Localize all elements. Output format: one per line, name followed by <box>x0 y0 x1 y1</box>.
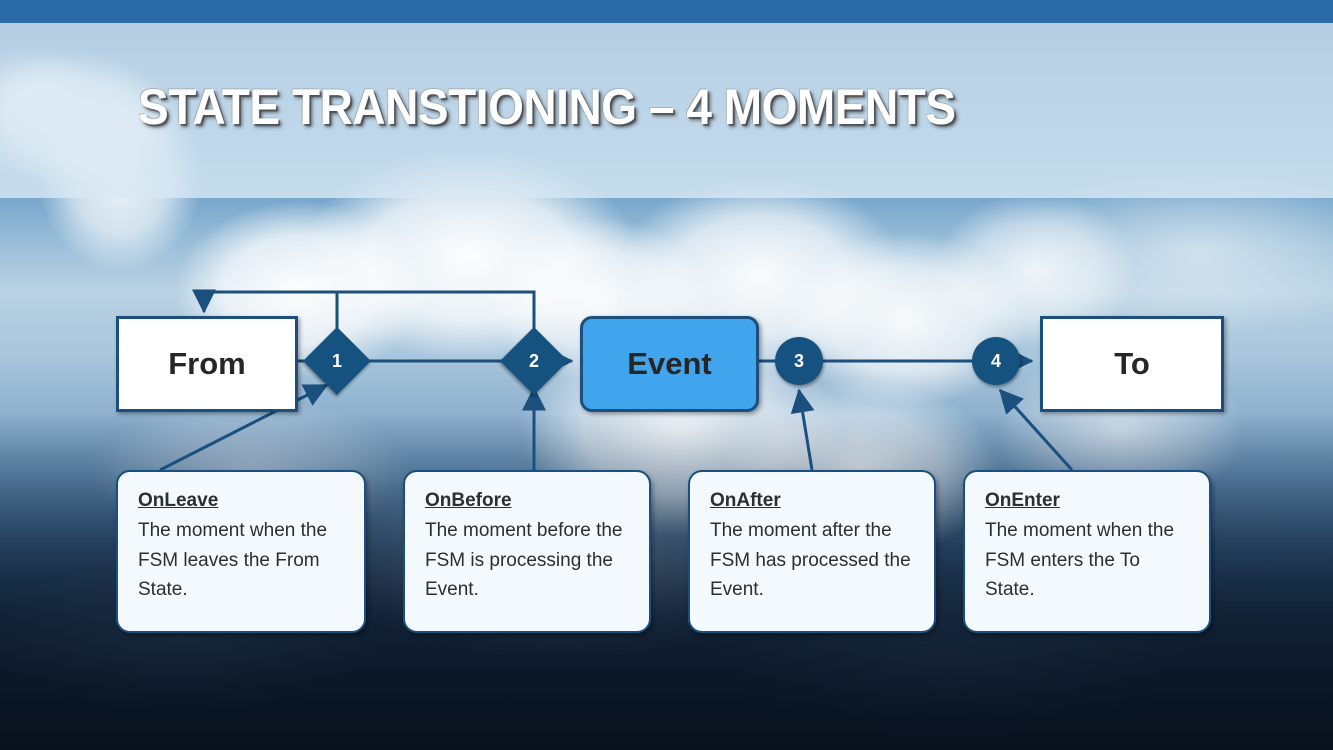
diagram-area: From Event To 1 2 3 4 OnLeave The moment… <box>0 0 1333 750</box>
state-box-from-label: From <box>168 346 246 382</box>
callout-onleave-description: The moment when the FSM leaves the From … <box>138 516 348 604</box>
callout-onafter[interactable]: OnAfter The moment after the FSM has pro… <box>688 470 936 633</box>
moment-marker-2[interactable]: 2 <box>510 337 558 385</box>
callout-onbefore-description: The moment before the FSM is processing … <box>425 516 633 604</box>
event-box[interactable]: Event <box>580 316 759 412</box>
callout-onbefore[interactable]: OnBefore The moment before the FSM is pr… <box>403 470 651 633</box>
callout-onafter-term: OnAfter <box>710 486 918 515</box>
callout-onbefore-term: OnBefore <box>425 486 633 515</box>
moment-marker-2-number: 2 <box>529 351 539 372</box>
moment-marker-3-number: 3 <box>794 351 804 372</box>
moment-marker-3[interactable]: 3 <box>775 337 823 385</box>
callout-onafter-description: The moment after the FSM has processed t… <box>710 516 918 604</box>
slide-canvas: STATE TRANSTIONING – 4 MOMENTS <box>0 0 1333 750</box>
state-box-to-label: To <box>1114 346 1150 382</box>
callout-onenter-term: OnEnter <box>985 486 1193 515</box>
callout-onleave-term: OnLeave <box>138 486 348 515</box>
state-box-from[interactable]: From <box>116 316 298 412</box>
moment-marker-1-number: 1 <box>332 351 342 372</box>
callout-onleave[interactable]: OnLeave The moment when the FSM leaves t… <box>116 470 366 633</box>
moment-marker-4[interactable]: 4 <box>972 337 1020 385</box>
callout-onenter-description: The moment when the FSM enters the To St… <box>985 516 1193 604</box>
event-box-label: Event <box>627 346 711 382</box>
state-box-to[interactable]: To <box>1040 316 1224 412</box>
callout-onenter[interactable]: OnEnter The moment when the FSM enters t… <box>963 470 1211 633</box>
moment-marker-1[interactable]: 1 <box>313 337 361 385</box>
moment-marker-4-number: 4 <box>991 351 1001 372</box>
